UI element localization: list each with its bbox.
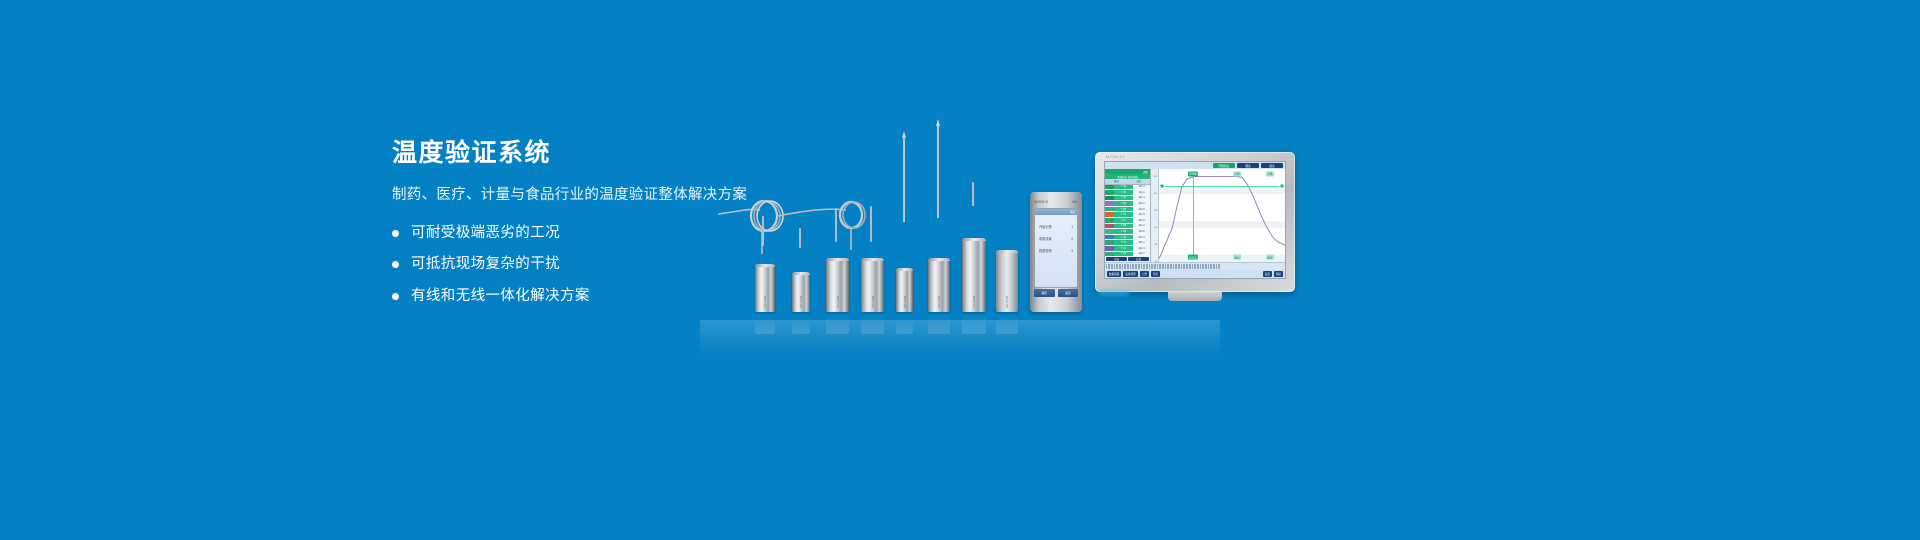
channel-color-swatch — [1105, 240, 1114, 245]
chart-area: 20406080100120 — [1151, 169, 1285, 262]
channel-name: T 12 — [1114, 246, 1133, 251]
monitor-stand — [1168, 292, 1222, 301]
channel-color-swatch — [1105, 224, 1114, 229]
probe-label: WZP-08 — [1005, 296, 1009, 308]
channel-value: 120.7 — [1133, 252, 1150, 257]
probe-reflection — [896, 320, 913, 334]
list-item[interactable]: 数据查看 3 — [1039, 248, 1073, 253]
range-tag-end[interactable]: 终点 — [1266, 255, 1274, 260]
probe-needle — [903, 138, 905, 222]
hero-banner: 温度验证系统 制药、医疗、计量与食品行业的温度验证整体解决方案 可耐受极端恶劣的… — [0, 0, 1920, 540]
y-axis-tick-label: 100 — [1153, 193, 1157, 195]
probe-label: WZP-06 — [937, 296, 941, 308]
bottom-button-acquire[interactable]: 数据采集 — [1107, 271, 1121, 277]
y-axis-tick-label: 20 — [1155, 261, 1157, 263]
handheld-menu-value: 1 — [1071, 225, 1073, 229]
invert-selection-button[interactable]: 反选 — [1128, 257, 1149, 261]
handheld-reader[interactable]: MONIXI M1 验证 开始记录 1 参数设置 2 — [1030, 192, 1082, 312]
y-axis-tick-label: 40 — [1155, 244, 1157, 246]
bottom-button-help[interactable]: 帮助 — [1274, 271, 1283, 277]
monitor-brand: MONIXI — [1106, 155, 1125, 159]
channel-value: 121.4 — [1133, 196, 1150, 201]
column-header-channel: 通道 — [1105, 179, 1128, 183]
probe-label: WZP-04 — [871, 296, 875, 308]
y-axis-tick-label: 60 — [1155, 227, 1157, 229]
toolbar-button-start-validation[interactable]: 开始验证 — [1213, 163, 1235, 168]
level-line — [1159, 186, 1285, 187]
probe-reflection — [996, 316, 1018, 334]
handheld-menu-value: 2 — [1071, 237, 1073, 241]
channel-name: T 06 — [1114, 212, 1133, 217]
coiled-wire-probes — [718, 192, 928, 262]
channel-value: 121.2 — [1133, 201, 1150, 206]
software-screen: 开始验证 图表 报表 通道 灭菌验证 温度曲线 通道 温度 — [1104, 161, 1286, 279]
probe-body: WZP-04 — [861, 258, 884, 312]
channel-color-swatch — [1105, 252, 1114, 257]
bottom-button-export[interactable]: 导出 — [1151, 271, 1160, 277]
handheld-screen: 验证 开始记录 1 参数设置 2 数据查看 3 — [1034, 208, 1078, 288]
probe-label: WZP-01 — [763, 296, 767, 308]
channel-color-swatch — [1105, 190, 1114, 195]
probe-needle — [937, 126, 939, 218]
app-toolbar: 开始验证 图表 报表 — [1105, 162, 1285, 169]
handheld-screen-title: 验证 — [1070, 210, 1075, 214]
y-axis: 20406080100120 — [1151, 169, 1159, 262]
list-item[interactable]: 开始记录 1 — [1039, 224, 1073, 229]
handheld-menu-value: 3 — [1071, 249, 1073, 253]
channel-panel: 通道 灭菌验证 温度曲线 通道 温度 T 01121.3T 02121.1T 0… — [1105, 169, 1151, 262]
channel-name: T 01 — [1114, 185, 1133, 190]
limit-tag-lower[interactable]: 下限 — [1266, 171, 1274, 176]
channel-name: T 05 — [1114, 207, 1133, 212]
probe-stem — [762, 216, 764, 246]
channel-name: T 04 — [1114, 201, 1133, 206]
handheld-menu-label: 数据查看 — [1039, 248, 1052, 253]
probe-stem — [870, 206, 872, 242]
probe-label: WZP-02 — [799, 296, 803, 308]
bottom-button-upload[interactable]: 上传 — [1140, 271, 1149, 277]
channel-value: 120.8 — [1133, 229, 1150, 234]
cursor-tag-bottom[interactable]: 标记点 — [1188, 255, 1198, 260]
level-marker-left[interactable] — [1159, 183, 1164, 188]
select-all-button[interactable]: 全选 — [1106, 257, 1127, 261]
probe-label: WZP-07 — [972, 296, 976, 308]
probe-label: WZP-03 — [836, 296, 840, 308]
column-header-temp: 温度 — [1128, 179, 1151, 183]
channel-color-swatch — [1105, 235, 1114, 240]
y-axis-tick-label: 80 — [1155, 210, 1157, 212]
bottom-bar-spacer — [1162, 271, 1261, 277]
channel-value: 121.3 — [1133, 185, 1150, 190]
channel-value: 121.4 — [1133, 246, 1150, 251]
channel-value: 121.5 — [1133, 212, 1150, 217]
range-tag-start[interactable]: 起点 — [1233, 255, 1241, 260]
channel-color-swatch — [1105, 212, 1114, 217]
channel-name: T 13 — [1114, 252, 1133, 257]
handheld-key-confirm[interactable]: 确定 — [1034, 289, 1055, 297]
channel-name: T 03 — [1114, 196, 1133, 201]
channel-name: T 08 — [1114, 224, 1133, 229]
handheld-model: M1 — [1072, 200, 1078, 204]
channel-color-swatch — [1105, 201, 1114, 206]
time-tick — [1219, 264, 1220, 269]
handheld-menu-label: 开始记录 — [1039, 224, 1052, 229]
channel-name: T 09 — [1114, 229, 1133, 234]
limit-tag-upper[interactable]: 上限 — [1233, 171, 1241, 176]
probe-body: WZP-06 — [928, 258, 950, 312]
probe-body: WZP-07 — [962, 238, 986, 312]
monitor-power-glow — [1099, 291, 1129, 295]
channel-value: 121.2 — [1133, 224, 1150, 229]
channel-value: 121.1 — [1133, 190, 1150, 195]
channel-name: T 10 — [1114, 235, 1133, 240]
temperature-curve — [1159, 169, 1285, 262]
channel-value: 121.1 — [1133, 240, 1150, 245]
channel-color-swatch — [1105, 196, 1114, 201]
handheld-keypad: 确定 返回 — [1034, 289, 1078, 297]
channel-table-body[interactable]: T 01121.3T 02121.1T 03121.4T 04121.2T 05… — [1105, 185, 1150, 258]
probe-reflection — [928, 316, 950, 334]
handheld-menu-label: 参数设置 — [1039, 236, 1052, 241]
bottom-button-settings[interactable]: 设置 — [1263, 271, 1272, 277]
toolbar-button-chart[interactable]: 图表 — [1237, 163, 1259, 168]
cursor-line — [1193, 173, 1194, 259]
app-body: 通道 灭菌验证 温度曲线 通道 温度 T 01121.3T 02121.1T 0… — [1105, 169, 1285, 262]
probe-body: WZP-03 — [826, 258, 849, 312]
bullet-dot-icon — [392, 261, 399, 268]
feature-label: 有线和无线一体化解决方案 — [411, 288, 590, 305]
handheld-brand: MONIXI — [1034, 200, 1049, 204]
probe-reflection — [755, 318, 775, 334]
channel-name: T 07 — [1114, 218, 1133, 223]
app-bottom-bar: 数据采集 设备管理 上传 导出 设置 帮助 — [1105, 270, 1285, 278]
level-marker-right[interactable] — [1280, 183, 1285, 188]
monitor-bezel: MONIXI 开始验证 图表 报表 通道 灭菌验证 温度曲线 — [1095, 152, 1295, 292]
probe-label: WZP-05 — [903, 296, 907, 308]
feature-label: 可抵抗现场复杂的干扰 — [411, 256, 560, 273]
channel-value: 121.0 — [1133, 218, 1150, 223]
probe-body: WZP-01 — [755, 264, 775, 312]
channel-value: 120.9 — [1133, 207, 1150, 212]
channel-color-swatch — [1105, 229, 1114, 234]
channel-color-swatch — [1105, 218, 1114, 223]
channel-color-swatch — [1105, 207, 1114, 212]
scene-floor-reflection — [700, 320, 1220, 354]
plot-area[interactable]: 时间轴 标记点 上限 下限 起点 终点 — [1159, 169, 1285, 262]
channel-value: 121.3 — [1133, 235, 1150, 240]
channel-name: T 02 — [1114, 190, 1133, 195]
channel-name: T 11 — [1114, 240, 1133, 245]
product-photo: WZP-01 WZP-02 WZP-03 WZP-04 WZP-05 WZP-0… — [700, 120, 1220, 320]
bullet-dot-icon — [392, 230, 399, 237]
feature-label: 可耐受极端恶劣的工况 — [411, 225, 560, 242]
probe-reflection — [861, 316, 884, 334]
channel-color-swatch — [1105, 185, 1114, 190]
bullet-dot-icon — [392, 293, 399, 300]
channel-color-swatch — [1105, 246, 1114, 251]
probe-body: WZP-05 — [896, 268, 913, 312]
probe-reflection — [792, 320, 810, 334]
probe-body: WZP-08 — [996, 250, 1018, 312]
bottom-button-devices[interactable]: 设备管理 — [1123, 271, 1137, 277]
probe-reflection — [962, 314, 986, 334]
probe-reflection — [826, 316, 849, 334]
cursor-tag-top[interactable]: 时间轴 — [1188, 171, 1198, 176]
probe-stem — [972, 182, 974, 206]
toolbar-button-report[interactable]: 报表 — [1261, 163, 1283, 168]
handheld-menu: 开始记录 1 参数设置 2 数据查看 3 — [1035, 215, 1077, 253]
monitor-display: MONIXI 开始验证 图表 报表 通道 灭菌验证 温度曲线 — [1095, 152, 1295, 292]
time-scrollbar[interactable] — [1105, 262, 1285, 270]
probe-stem — [799, 228, 801, 248]
handheld-brandbar: MONIXI M1 — [1034, 197, 1078, 206]
handheld-key-back[interactable]: 返回 — [1058, 289, 1079, 297]
probe-stem — [835, 208, 837, 242]
probe-body: WZP-02 — [792, 272, 810, 312]
list-item[interactable]: 参数设置 2 — [1039, 236, 1073, 241]
y-axis-tick-label: 120 — [1153, 176, 1157, 178]
